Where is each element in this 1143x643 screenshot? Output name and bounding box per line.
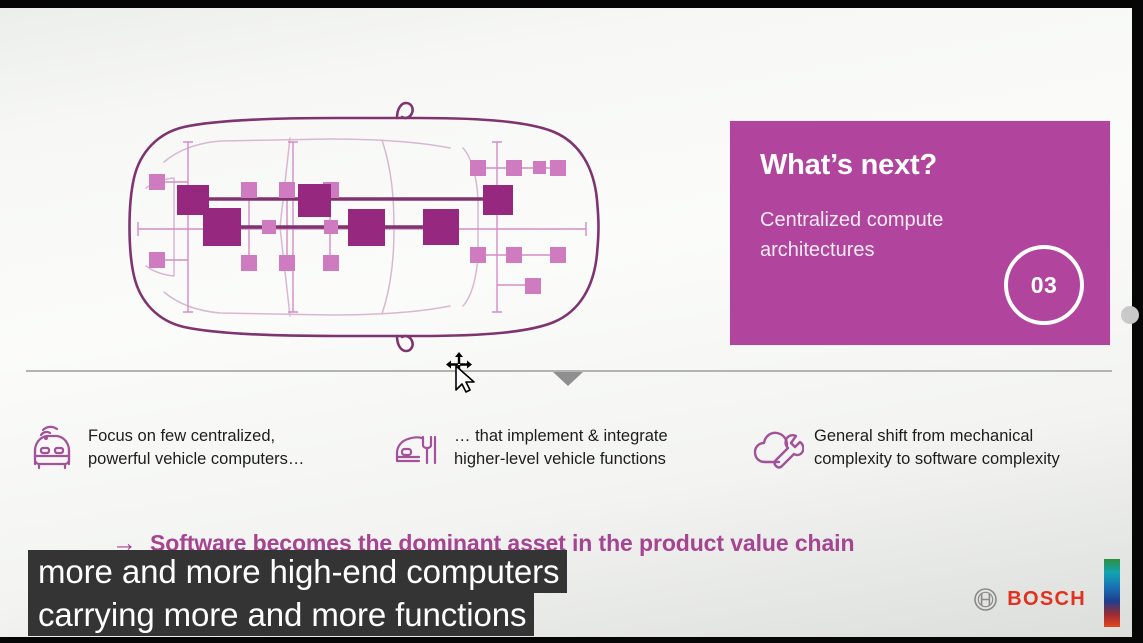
- video-frame: What’s next? Centralized compute archite…: [0, 0, 1143, 643]
- caption-line-2: carrying more and more functions: [28, 593, 534, 636]
- bosch-supergraphic: [1104, 559, 1120, 627]
- bosch-wordmark: BOSCH: [1007, 588, 1086, 611]
- presentation-slide: What’s next? Centralized compute archite…: [0, 8, 1132, 637]
- whats-next-title: What’s next?: [760, 149, 937, 182]
- letterbox-top: [0, 0, 1143, 8]
- bosch-logo: BOSCH: [973, 585, 1086, 613]
- benefit-item-3: General shift from mechanical complexity…: [752, 423, 1116, 473]
- benefit-item-2: … that implement & integrate higher-leve…: [392, 423, 732, 473]
- divider-caret-icon: [553, 372, 583, 386]
- benefit-text-2: … that implement & integrate higher-leve…: [454, 425, 668, 471]
- whats-next-subtitle: Centralized compute architectures: [760, 205, 1010, 265]
- section-number-text: 03: [1031, 272, 1058, 299]
- connected-car-icon: [26, 423, 78, 473]
- car-ecu-topology-diagram: [120, 100, 610, 355]
- video-caption: more and more high-end computers carryin…: [28, 550, 567, 636]
- bosch-anchor-icon: [973, 587, 998, 612]
- caption-line-1: more and more high-end computers: [28, 550, 567, 593]
- edge-control-knob[interactable]: [1121, 306, 1139, 324]
- benefit-text-3: General shift from mechanical complexity…: [814, 425, 1060, 471]
- letterbox-bottom: [0, 637, 1143, 643]
- benefit-text-1: Focus on few centralized, powerful vehic…: [88, 425, 304, 471]
- benefits-row: Focus on few centralized, powerful vehic…: [26, 423, 1116, 493]
- benefit-item-1: Focus on few centralized, powerful vehic…: [26, 423, 386, 473]
- car-wrench-icon: [392, 423, 444, 473]
- section-number-badge: 03: [1004, 245, 1084, 325]
- cloud-wrench-icon: [752, 423, 804, 473]
- whats-next-card: What’s next? Centralized compute archite…: [730, 121, 1110, 345]
